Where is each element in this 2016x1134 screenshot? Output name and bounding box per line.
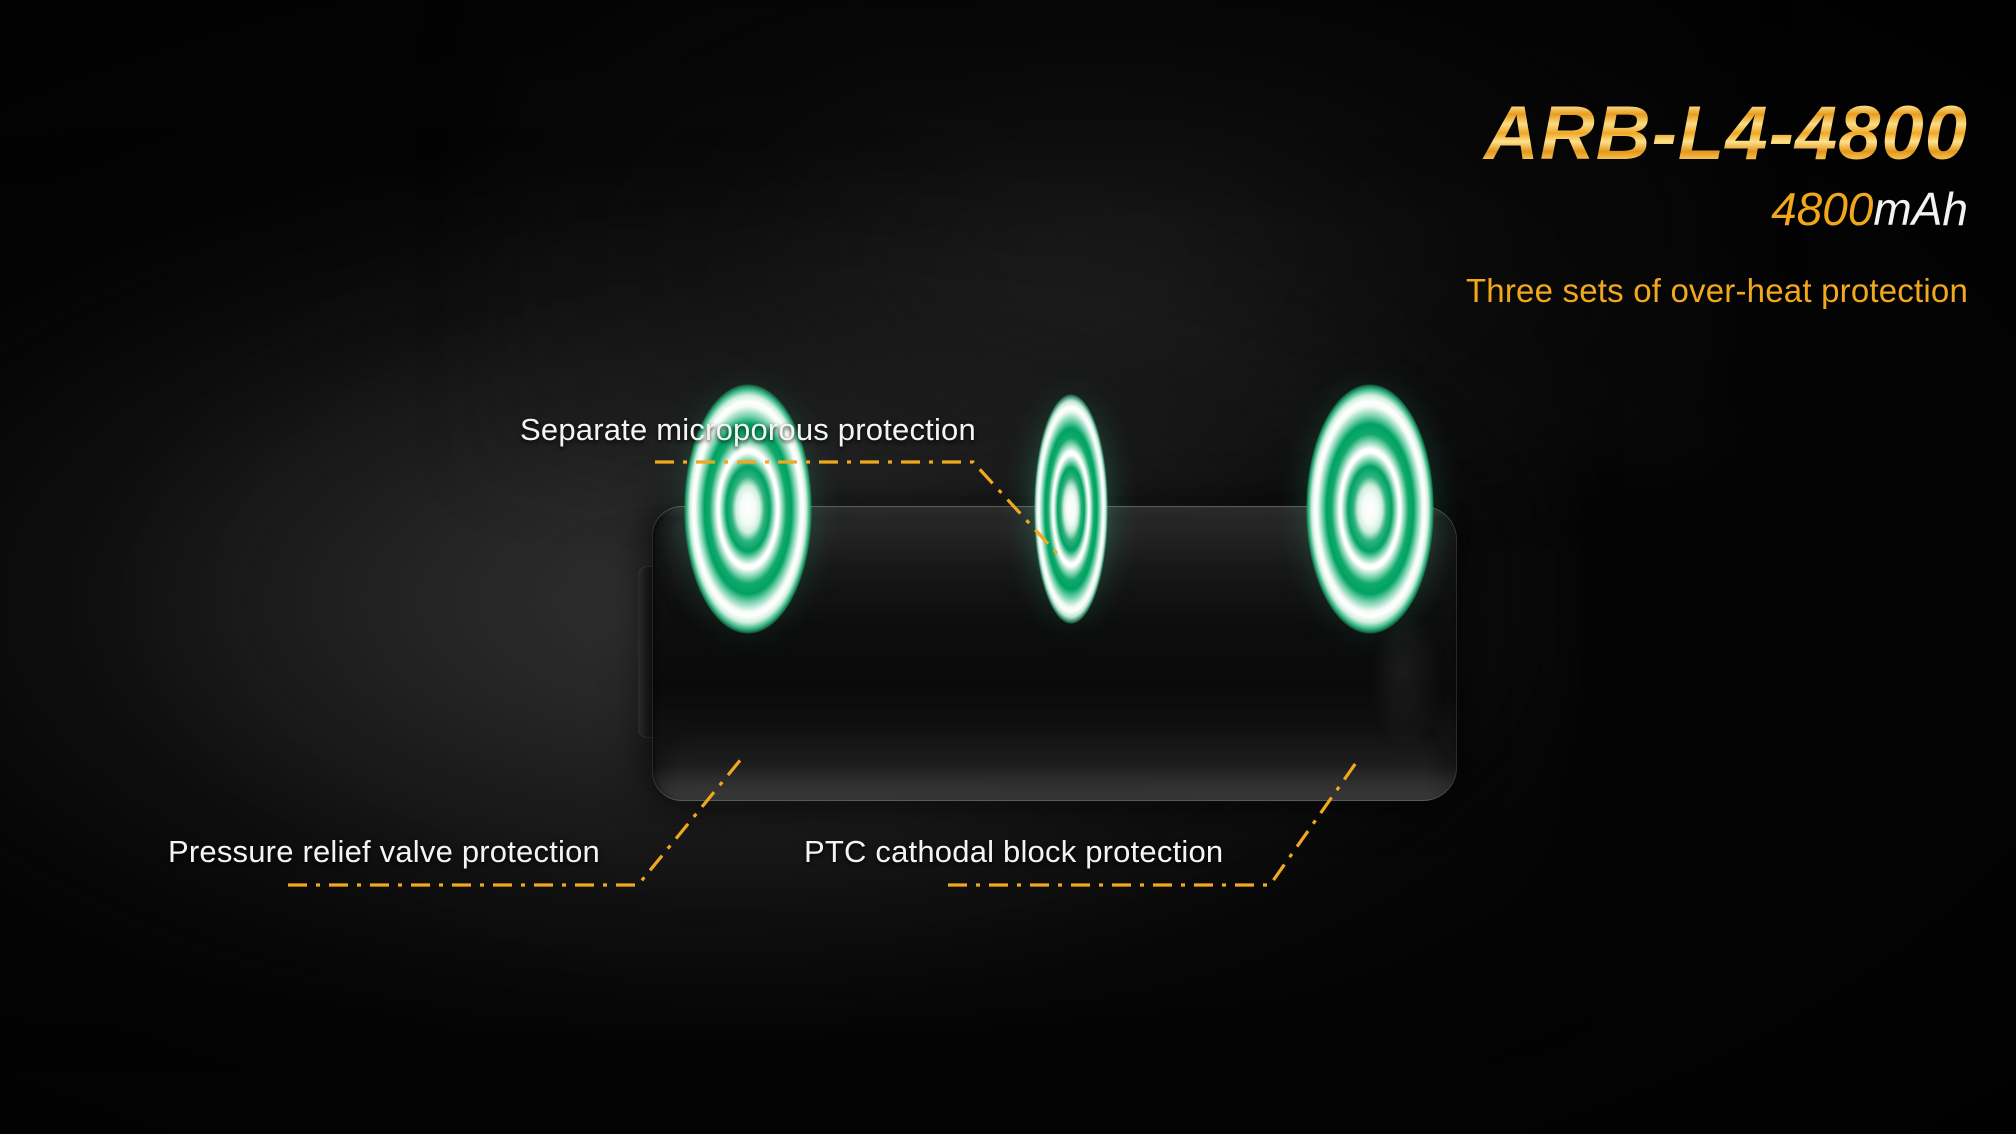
callout-label-pressure-relief-valve: Pressure relief valve protection — [168, 834, 600, 870]
headline-block: ARB-L4-4800 4800mAh Three sets of over-h… — [1466, 96, 1968, 307]
callout-label-ptc-cathodal-block: PTC cathodal block protection — [804, 834, 1223, 870]
callout-label-separate-microporous: Separate microporous protection — [520, 412, 976, 448]
product-capacity: 4800mAh — [1466, 186, 1968, 232]
product-infographic: ARB-L4-4800 4800mAh Three sets of over-h… — [0, 0, 2016, 1134]
capacity-value: 4800 — [1771, 183, 1873, 235]
capacity-unit: mAh — [1873, 183, 1968, 235]
product-tagline: Three sets of over-heat protection — [1466, 274, 1968, 307]
product-model-name: ARB-L4-4800 — [1466, 96, 1968, 172]
